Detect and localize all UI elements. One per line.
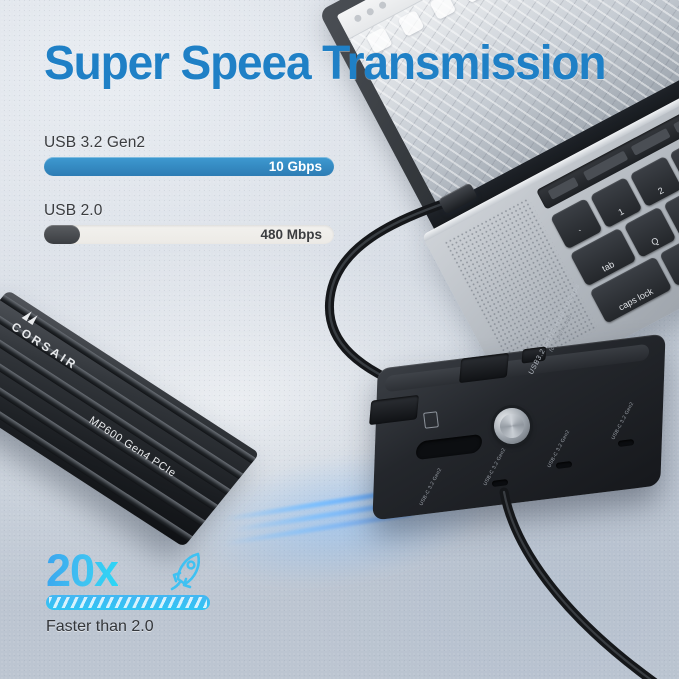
speed-bar-track: 10 Gbps — [44, 157, 334, 176]
speed-row-usb20: USB 2.0 480 Mbps — [44, 202, 334, 244]
speed-row-label: USB 2.0 — [44, 202, 334, 220]
speed-bar-fill — [44, 225, 80, 244]
speed-bar-value: 10 Gbps — [269, 157, 322, 176]
ssd-enclosure: CORSAIR MP600 Gen4 PCIe — [8, 290, 318, 535]
badge-top-row: 20x — [46, 545, 246, 597]
speed-bar-track: 480 Mbps — [44, 225, 334, 244]
bottom-cable-path — [440, 486, 679, 679]
bar-spacer — [44, 176, 334, 202]
badge-progress-bar — [46, 595, 210, 610]
touch-bar-segment[interactable] — [631, 128, 671, 156]
speed-multiplier-badge: 20x Faster than 2.0 — [46, 545, 246, 636]
multiplier-label: 20x — [46, 545, 118, 596]
badge-caption: Faster than 2.0 — [46, 618, 246, 636]
touch-bar-segment[interactable] — [583, 151, 628, 181]
usb-hub-device: USB3.2 GEN2 HUB 10Gbps for 4 ports usb U… — [374, 352, 664, 502]
speed-comparison-chart: USB 3.2 Gen2 10 Gbps USB 2.0 480 Mbps — [44, 134, 334, 244]
screen-toolbar-dot — [378, 0, 387, 9]
ssd-heatsink — [0, 290, 260, 547]
page-title: Super Speea Transmission — [44, 40, 658, 88]
speed-bar-value: 480 Mbps — [260, 225, 322, 244]
bottom-usb-cable — [440, 486, 679, 679]
speed-row-label: USB 3.2 Gen2 — [44, 134, 334, 152]
screen-toolbar-dot — [366, 7, 375, 16]
rocket-icon — [164, 549, 210, 598]
sd-card-slot-icon — [423, 411, 439, 429]
screen-toolbar-dot — [353, 14, 362, 23]
product-marketing-image: Ma ` 1 2 3 tab Q — [0, 0, 679, 679]
speed-row-usb32: USB 3.2 Gen2 10 Gbps — [44, 134, 334, 176]
